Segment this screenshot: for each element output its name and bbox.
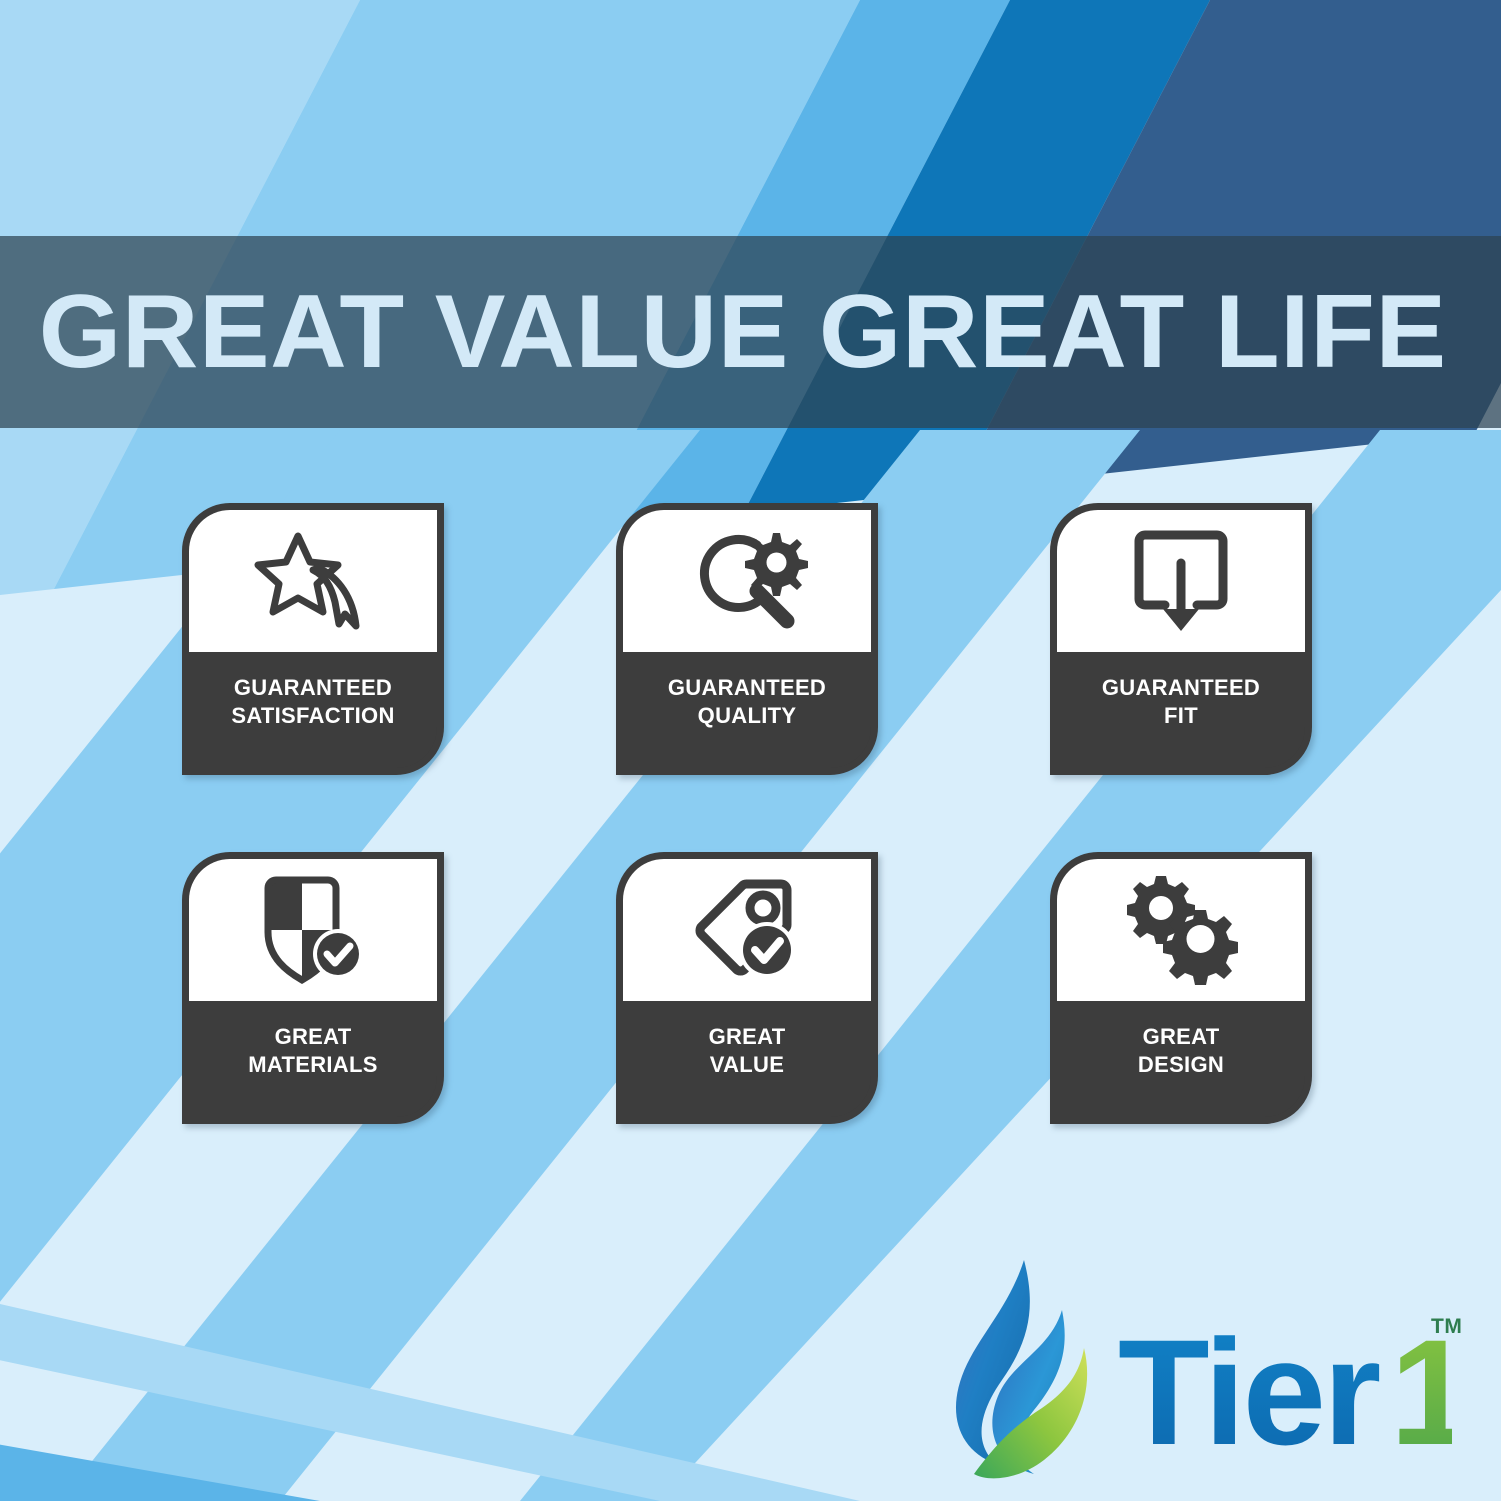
poster-canvas: GREAT VALUE GREAT LIFE GUARANTEED SATISF… xyxy=(0,0,1501,1501)
shooting-star-icon xyxy=(189,510,437,652)
feature-card-great-materials[interactable]: GREAT MATERIALS xyxy=(182,852,444,1124)
card-label: GUARANTEED SATISFACTION xyxy=(189,652,437,768)
trademark-symbol: TM xyxy=(1431,1315,1462,1339)
tier1-logo: Tier 1 xyxy=(952,1248,1452,1488)
card-label: GREAT MATERIALS xyxy=(189,1001,437,1117)
feature-card-great-value[interactable]: GREAT VALUE xyxy=(616,852,878,1124)
card-label: GREAT DESIGN xyxy=(1057,1001,1305,1117)
gears-icon xyxy=(1057,859,1305,1001)
headline-banner: GREAT VALUE GREAT LIFE xyxy=(0,236,1501,428)
card-label: GUARANTEED FIT xyxy=(1057,652,1305,768)
page-title: GREAT VALUE GREAT LIFE xyxy=(0,280,1447,384)
feature-card-guaranteed-fit[interactable]: GUARANTEED FIT xyxy=(1050,503,1312,775)
feature-card-guaranteed-satisfaction[interactable]: GUARANTEED SATISFACTION xyxy=(182,503,444,775)
shield-check-icon xyxy=(189,859,437,1001)
feature-card-guaranteed-quality[interactable]: GUARANTEED QUALITY xyxy=(616,503,878,775)
magnifier-gear-icon xyxy=(623,510,871,652)
insert-arrow-down-icon xyxy=(1057,510,1305,652)
price-tag-check-icon xyxy=(623,859,871,1001)
logo-wordmark: Tier xyxy=(1118,1308,1380,1476)
feature-card-great-design[interactable]: GREAT DESIGN xyxy=(1050,852,1312,1124)
card-label: GREAT VALUE xyxy=(623,1001,871,1117)
card-label: GUARANTEED QUALITY xyxy=(623,652,871,768)
